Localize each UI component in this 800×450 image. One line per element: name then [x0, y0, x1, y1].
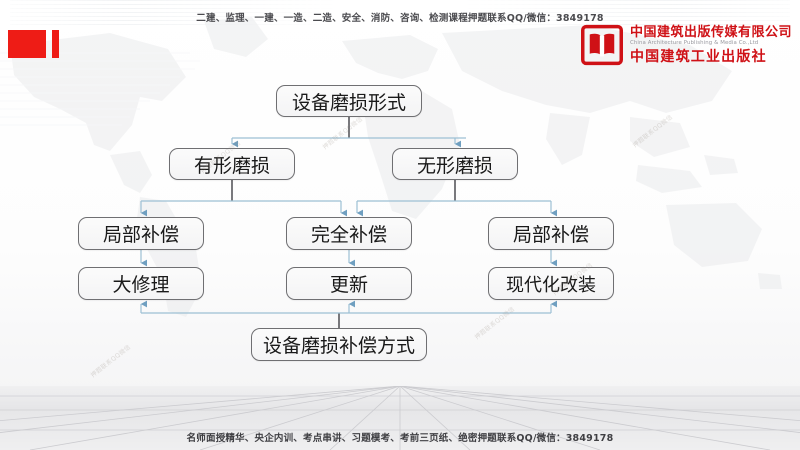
node-partial-compensation-left[interactable]: 局部补偿 — [78, 217, 204, 250]
node-full-compensation[interactable]: 完全补偿 — [286, 217, 412, 250]
node-renewal[interactable]: 更新 — [286, 267, 412, 300]
node-intangible-wear[interactable]: 无形磨损 — [392, 148, 518, 180]
flowchart: 设备磨损形式 有形磨损 无形磨损 局部补偿 完全补偿 局部补偿 大修理 更新 现… — [0, 0, 800, 450]
diagonal-watermark: 押题联系QQ微信 — [88, 342, 132, 379]
diagonal-watermark: 押题联系QQ微信 — [630, 112, 674, 149]
node-compensation-methods[interactable]: 设备磨损补偿方式 — [251, 328, 427, 361]
diagonal-watermark: 押题联系QQ微信 — [320, 114, 364, 151]
node-root[interactable]: 设备磨损形式 — [276, 85, 422, 117]
slide-canvas: 二建、监理、一建、一造、二造、安全、消防、咨询、检测课程押题联系QQ/微信：38… — [0, 0, 800, 450]
node-partial-compensation-right[interactable]: 局部补偿 — [488, 217, 614, 250]
node-overhaul[interactable]: 大修理 — [78, 267, 204, 300]
bottom-banner-text: 名师面授精华、央企内训、考点串讲、习题模考、考前三页纸、绝密押题联系QQ/微信：… — [0, 430, 800, 444]
diagonal-watermark: 押题联系QQ微信 — [472, 304, 516, 341]
node-modernization[interactable]: 现代化改装 — [488, 267, 614, 300]
